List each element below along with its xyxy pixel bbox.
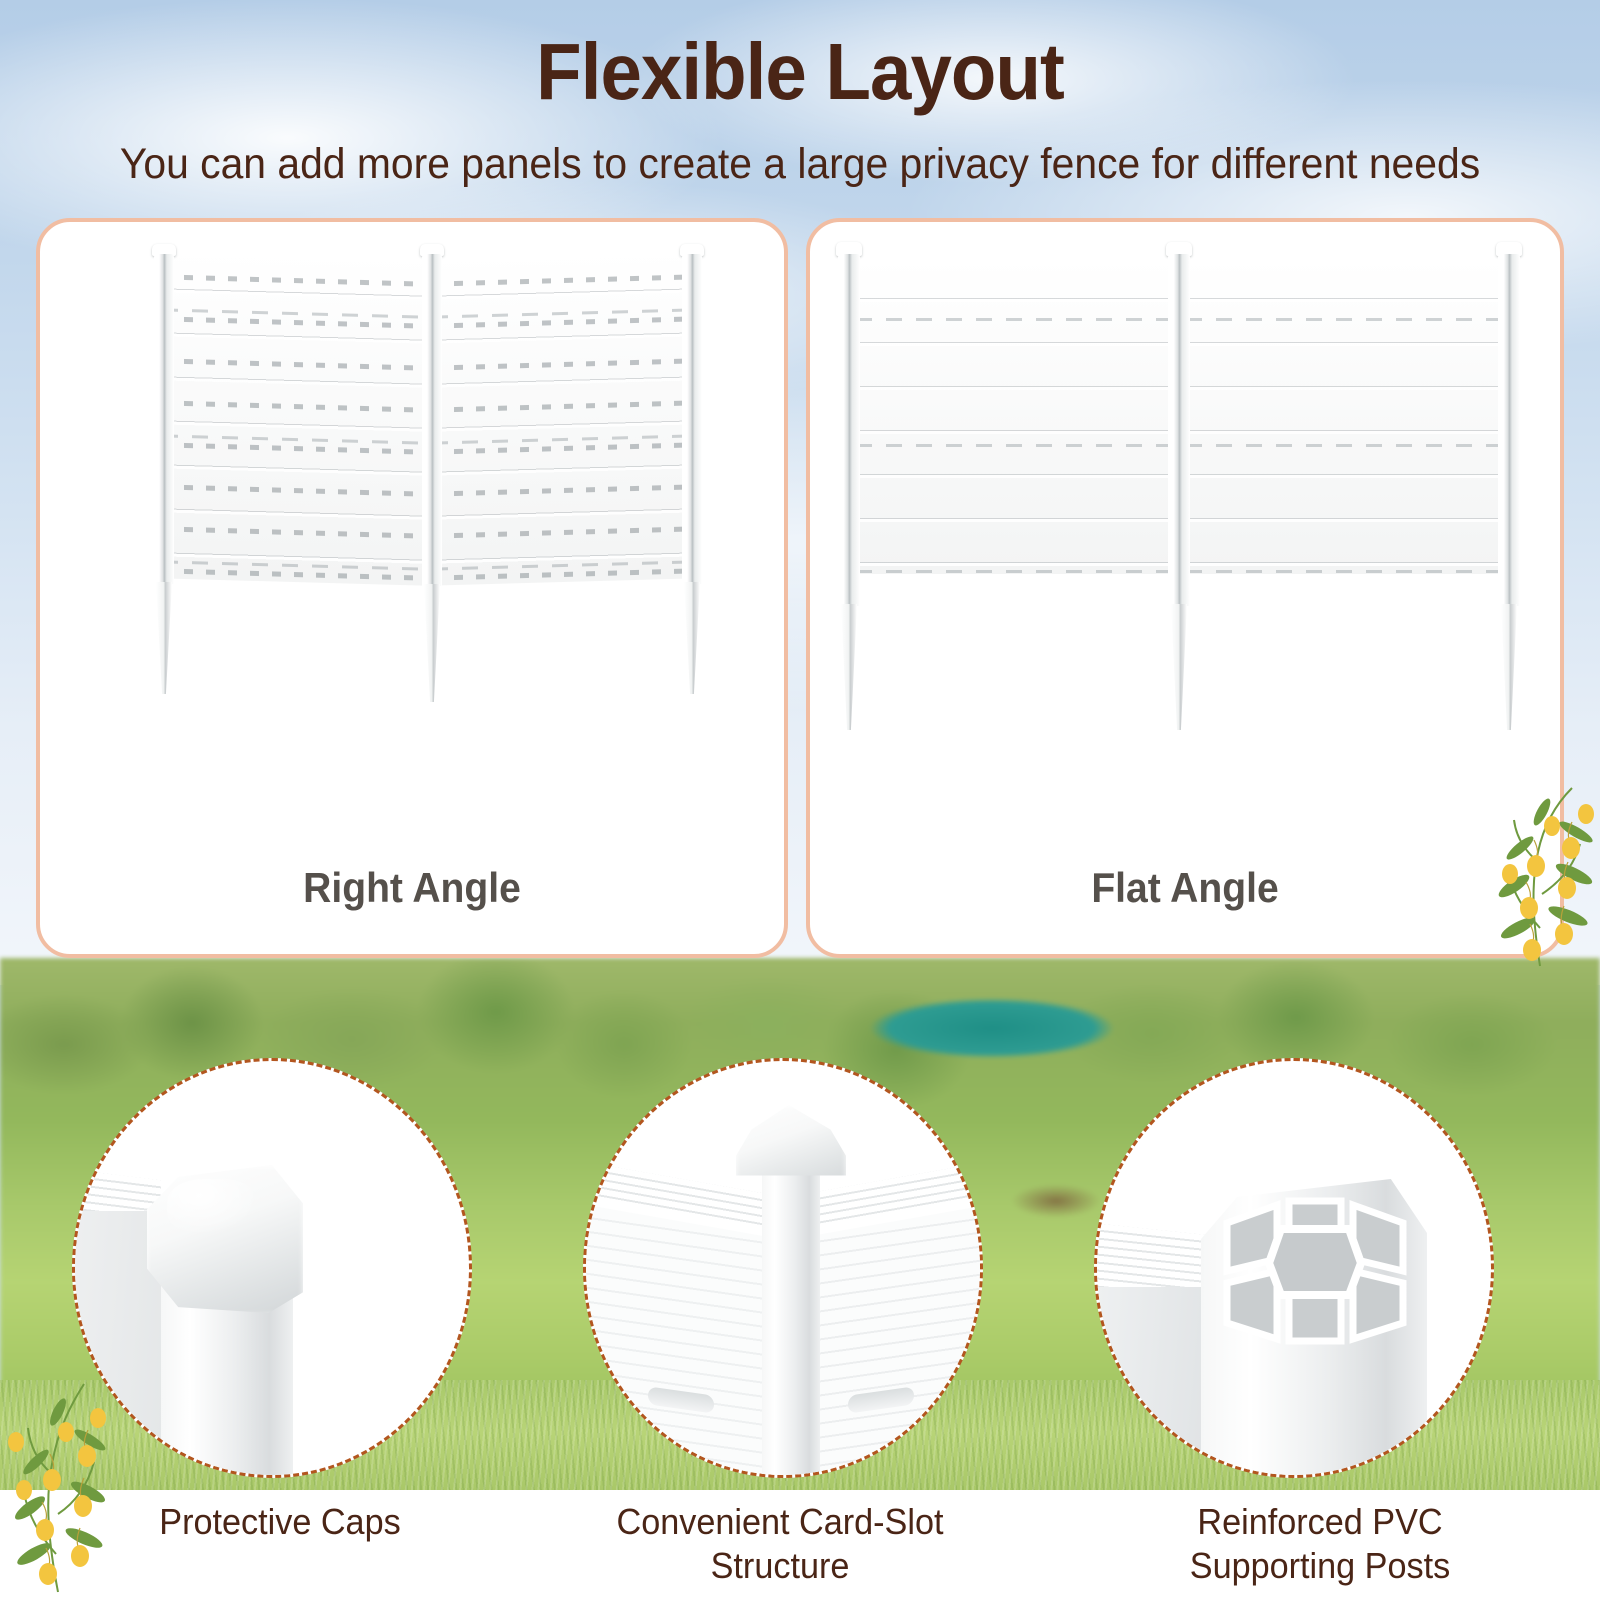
card-caption-right-angle: Right Angle (66, 864, 758, 912)
fence-panel-left (162, 248, 424, 585)
fence-post-center (1168, 254, 1190, 606)
ground-stake-right (1501, 604, 1517, 730)
fence-post-left (154, 254, 174, 584)
card-caption-flat-angle: Flat Angle (836, 864, 1534, 912)
post-body (762, 1161, 820, 1478)
ground-stake-left (156, 582, 172, 694)
panel-card-slots (1186, 258, 1504, 574)
detail-caption-card-slot: Convenient Card-Slot Structure (581, 1500, 980, 1588)
card-flat-angle[interactable]: Flat Angle (806, 218, 1564, 958)
fence-illustration-flat-angle (810, 222, 1560, 842)
fence-post-right (1498, 254, 1520, 606)
yellow-flower-sprig-icon (0, 1378, 124, 1593)
cap-highlight (167, 1179, 259, 1235)
ground-stake-left (841, 604, 857, 730)
fence-post-right (682, 254, 702, 584)
panel-card-slots (162, 248, 424, 585)
panel-card-slots (856, 258, 1174, 574)
ground-stake-center (1171, 604, 1187, 730)
detail-caption-protective-caps: Protective Caps (81, 1500, 480, 1544)
post-hollow-chambers (1219, 1189, 1411, 1349)
panel-right-face (798, 1204, 983, 1478)
fence-panel-right (1186, 258, 1504, 574)
fence-panel-right (432, 248, 694, 585)
fence-illustration-right-angle (40, 222, 784, 842)
fence-post-left (838, 254, 860, 606)
yellow-flower-sprig-icon (1468, 778, 1600, 968)
page-title: Flexible Layout (56, 26, 1544, 118)
ground-stake-right (684, 582, 700, 694)
detail-photo-reinforced-pvc-post[interactable] (1094, 1058, 1494, 1478)
panel-card-slots (432, 248, 694, 585)
panel-left-face (583, 1204, 776, 1478)
post-cap (736, 1105, 846, 1187)
detail-photo-protective-caps[interactable] (72, 1058, 472, 1478)
card-right-angle[interactable]: Right Angle (36, 218, 788, 958)
detail-photo-card-slot-structure[interactable] (583, 1058, 983, 1478)
detail-caption-supporting-posts: Reinforced PVC Supporting Posts (1121, 1500, 1520, 1588)
page-subtitle: You can add more panels to create a larg… (40, 140, 1560, 189)
fence-panel-left (856, 258, 1174, 574)
panel-face (1094, 1287, 1217, 1478)
fence-post-center (422, 254, 442, 586)
ground-stake-center (424, 584, 440, 702)
